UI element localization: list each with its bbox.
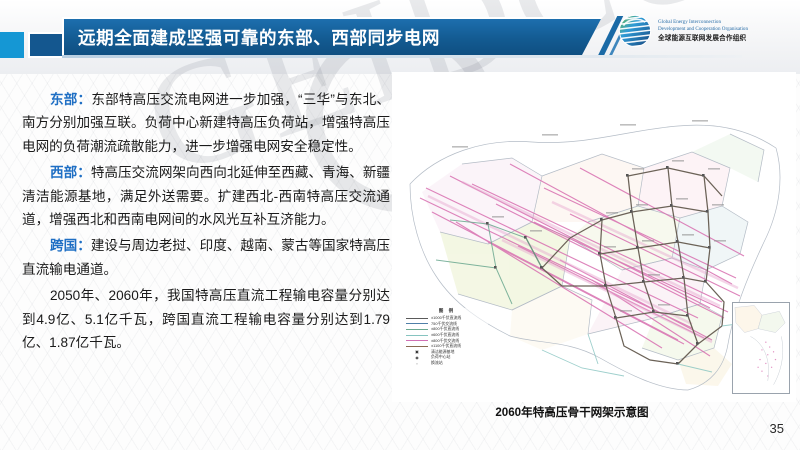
header-accent-square-navy <box>28 32 64 58</box>
logo-english-line1: Global Energy Interconnection <box>658 19 748 26</box>
paragraph-east: 东部：东部特高压交流电网进一步加强，“三华”与东北、南方分别加强互联。负荷中心新… <box>22 88 390 158</box>
logo-chinese-name: 全球能源互联网发展合作组织 <box>658 34 748 44</box>
legend-title: 图 例 <box>406 308 488 314</box>
legend-label: 换流站 <box>431 360 443 366</box>
page-title: 远期全面建成坚强可靠的东部、西部同步电网 <box>78 25 440 50</box>
legend-symbol-load-center: ◉ <box>406 355 428 360</box>
header-underline <box>62 55 742 58</box>
paragraph-capacity-text: 2050年、2060年，我国特高压直流工程输电容量分别达到4.9亿、5.1亿千瓦… <box>22 288 390 350</box>
logo-english-line2: Development and Cooperation Organisation <box>658 26 748 33</box>
south-china-sea-inset <box>732 302 790 394</box>
legend-symbol-clean-energy-base: ▣ <box>406 349 428 354</box>
page-number: 35 <box>770 421 784 436</box>
logo-text-block: Global Energy Interconnection Developmen… <box>658 19 748 44</box>
legend-swatch <box>406 329 428 330</box>
paragraph-east-lead: 东部： <box>50 92 91 107</box>
organisation-logo: Global Energy Interconnection Developmen… <box>618 14 748 48</box>
legend-swatch <box>406 318 428 319</box>
map-legend: 图 例 ±1000千伏直流线 750千伏交流线 ±800千伏直流线 ±600千伏… <box>406 308 488 366</box>
inset-graphic <box>733 303 789 393</box>
paragraph-west-lead: 西部： <box>50 165 91 180</box>
title-banner: 远期全面建成坚强可靠的东部、西部同步电网 <box>62 17 602 55</box>
legend-swatch <box>406 346 428 347</box>
legend-swatch <box>406 340 428 341</box>
paragraph-crossborder-lead: 跨国： <box>50 238 91 253</box>
paragraph-west: 西部：特高压交流网架向西向北延伸至西藏、青海、新疆清洁能源基地，满足外送需要。扩… <box>22 161 390 231</box>
legend-symbol-converter-station: ▫ <box>406 361 428 366</box>
paragraph-capacity: 2050年、2060年，我国特高压直流工程输电容量分别达到4.9亿、5.1亿千瓦… <box>22 284 390 354</box>
header-accent-square-cyan <box>0 32 24 58</box>
body-text-column: 东部：东部特高压交流电网进一步加强，“三华”与东北、南方分别加强互联。负荷中心新… <box>22 88 390 357</box>
slide-canvas: GEIDCO 远期全面建成坚强可靠的东部、西部同步电网 <box>0 0 800 450</box>
paragraph-crossborder: 跨国：建设与周边老挝、印度、越南、蒙古等国家特高压直流输电通道。 <box>22 234 390 281</box>
china-uhv-grid-map: 图 例 ±1000千伏直流线 750千伏交流线 ±800千伏直流线 ±600千伏… <box>392 72 796 402</box>
legend-swatch <box>406 335 428 336</box>
geidco-globe-icon <box>618 14 652 48</box>
legend-item: ▫换流站 <box>406 360 488 366</box>
legend-swatch <box>406 323 428 324</box>
map-caption: 2060年特高压骨干网架示意图 <box>392 404 752 420</box>
